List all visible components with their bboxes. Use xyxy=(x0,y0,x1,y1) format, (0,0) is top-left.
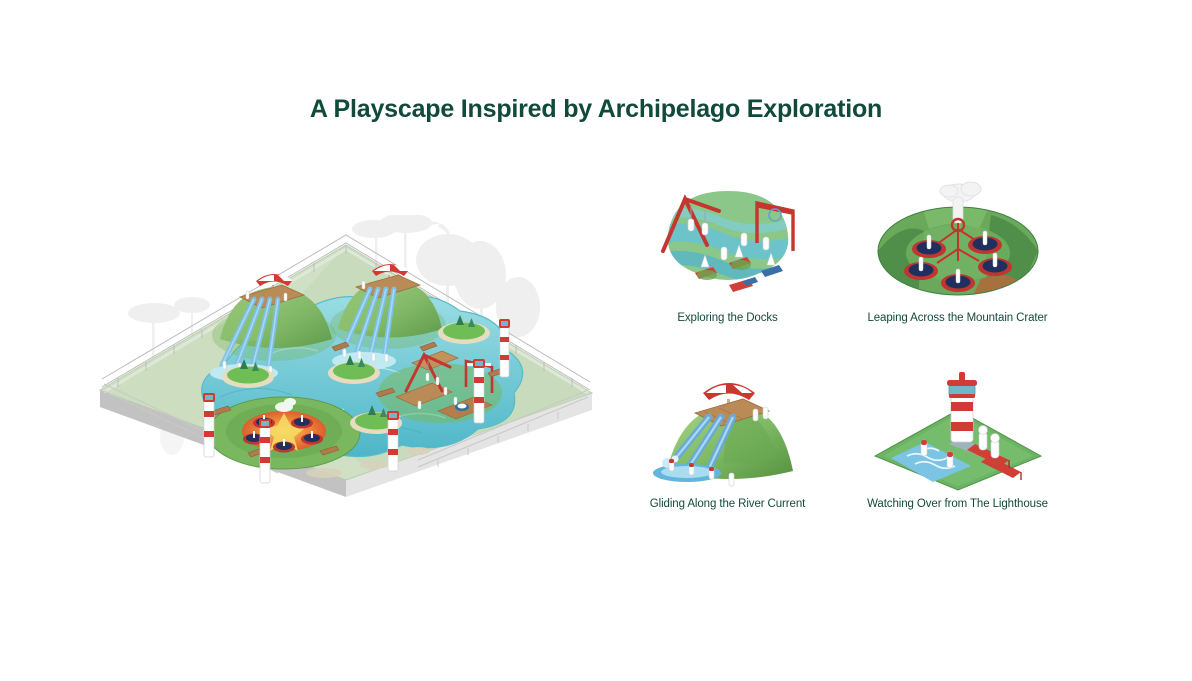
thumb-caption-crater: Leaping Across the Mountain Crater xyxy=(846,312,1069,324)
lighthouse-pad-illustration xyxy=(850,356,1065,496)
concept-card-docks: Exploring the Docks xyxy=(620,170,835,340)
slide-canvas: A Playscape Inspired by Archipelago Expl… xyxy=(0,0,1192,681)
slide-hill-svg xyxy=(633,359,823,494)
hero-illustration xyxy=(88,215,604,510)
thumb-caption-docks: Exploring the Docks xyxy=(620,312,835,324)
lighthouse-tower xyxy=(499,319,510,377)
slide-hill-illustration xyxy=(620,356,835,496)
lighthouse-tower xyxy=(473,359,485,423)
thumb-caption-lighthouse: Watching Over from The Lighthouse xyxy=(846,498,1069,510)
lighthouse-tower xyxy=(259,419,271,483)
crater-island xyxy=(208,397,360,469)
concept-thumbnail-grid: Exploring the Docks xyxy=(620,170,1070,530)
crater-trampolines-illustration xyxy=(850,170,1065,310)
lighthouse-tower xyxy=(387,411,399,471)
docks-playpad-svg xyxy=(633,175,823,305)
concept-card-lighthouse: Watching Over from The Lighthouse xyxy=(850,356,1065,526)
docks-playpad-illustration xyxy=(620,170,835,310)
crater-svg xyxy=(863,175,1053,305)
isometric-masterplan-svg xyxy=(88,215,604,510)
thumb-caption-river: Gliding Along the River Current xyxy=(620,498,835,510)
page-title: A Playscape Inspired by Archipelago Expl… xyxy=(0,94,1192,124)
concept-card-river: Gliding Along the River Current xyxy=(620,356,835,526)
lighthouse-pad-svg xyxy=(863,356,1053,496)
lighthouse-tower xyxy=(203,393,215,457)
concept-card-crater: Leaping Across the Mountain Crater xyxy=(850,170,1065,340)
